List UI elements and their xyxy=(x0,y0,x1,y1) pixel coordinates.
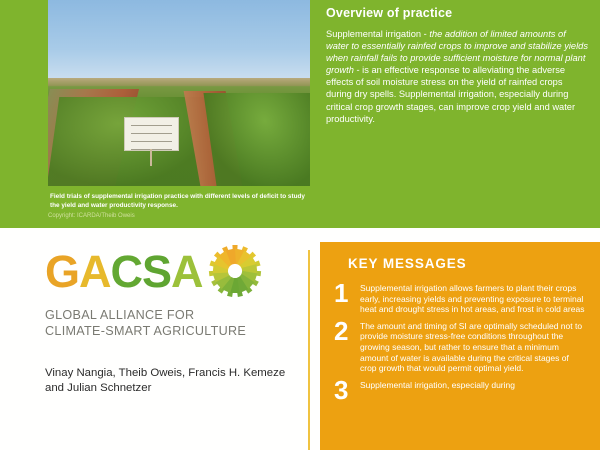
overview-body: Supplemental irrigation - the addition o… xyxy=(326,28,588,125)
gacsa-tagline: GLOBAL ALLIANCE FOR CLIMATE-SMART AGRICU… xyxy=(45,308,295,339)
wordmark-letter-s: S xyxy=(142,249,171,294)
lower-section: G A C S A xyxy=(0,228,600,450)
gacsa-wordmark-row: G A C S A xyxy=(45,242,295,300)
sunburst-icon xyxy=(204,242,266,300)
overview-lead: Supplemental irrigation - xyxy=(326,29,429,39)
key-message-item: 1 Supplemental irrigation allows farmers… xyxy=(320,277,600,315)
photo-crop-row-b xyxy=(204,93,310,186)
key-message-text: The amount and timing of SI are optimall… xyxy=(360,319,586,374)
vertical-divider xyxy=(308,250,310,450)
authors-line: Vinay Nangia, Theib Oweis, Francis H. Ke… xyxy=(45,366,300,396)
wordmark-letter-a2: A xyxy=(171,249,203,294)
photo-copyright: Copyright: ICARDA/Theib Oweis xyxy=(48,210,310,220)
photo-column: Field trials of supplemental irrigation … xyxy=(48,0,310,228)
key-messages-panel: KEY MESSAGES 1 Supplemental irrigation a… xyxy=(320,242,600,450)
wordmark-letter-g: G xyxy=(45,249,79,294)
overview-heading: Overview of practice xyxy=(326,6,588,20)
gacsa-logo-block: G A C S A xyxy=(45,242,295,339)
overview-block: Overview of practice Supplemental irriga… xyxy=(326,6,588,125)
field-trial-photo xyxy=(48,0,310,186)
photo-sign-post xyxy=(150,149,152,166)
key-messages-title: KEY MESSAGES xyxy=(320,242,600,277)
key-message-text: Supplemental irrigation, especially duri… xyxy=(360,378,515,401)
photo-sky xyxy=(48,0,310,82)
key-message-number: 3 xyxy=(334,378,360,401)
gacsa-tagline-line2: CLIMATE-SMART AGRICULTURE xyxy=(45,324,295,340)
factsheet-page: Field trials of supplemental irrigation … xyxy=(0,0,600,450)
key-message-item: 2 The amount and timing of SI are optima… xyxy=(320,315,600,374)
photo-caption: Field trials of supplemental irrigation … xyxy=(48,186,310,210)
key-message-number: 1 xyxy=(334,281,360,315)
wordmark-letter-a1: A xyxy=(79,249,111,294)
hero-green-band: Field trials of supplemental irrigation … xyxy=(0,0,600,228)
overview-tail: - is an effective response to alleviatin… xyxy=(326,65,575,123)
photo-field-plot-sign xyxy=(124,117,179,150)
key-message-item: 3 Supplemental irrigation, especially du… xyxy=(320,374,600,401)
key-message-text: Supplemental irrigation allows farmers t… xyxy=(360,281,586,315)
gacsa-tagline-line1: GLOBAL ALLIANCE FOR xyxy=(45,308,295,324)
wordmark-letter-c: C xyxy=(111,249,143,294)
key-message-number: 2 xyxy=(334,319,360,374)
